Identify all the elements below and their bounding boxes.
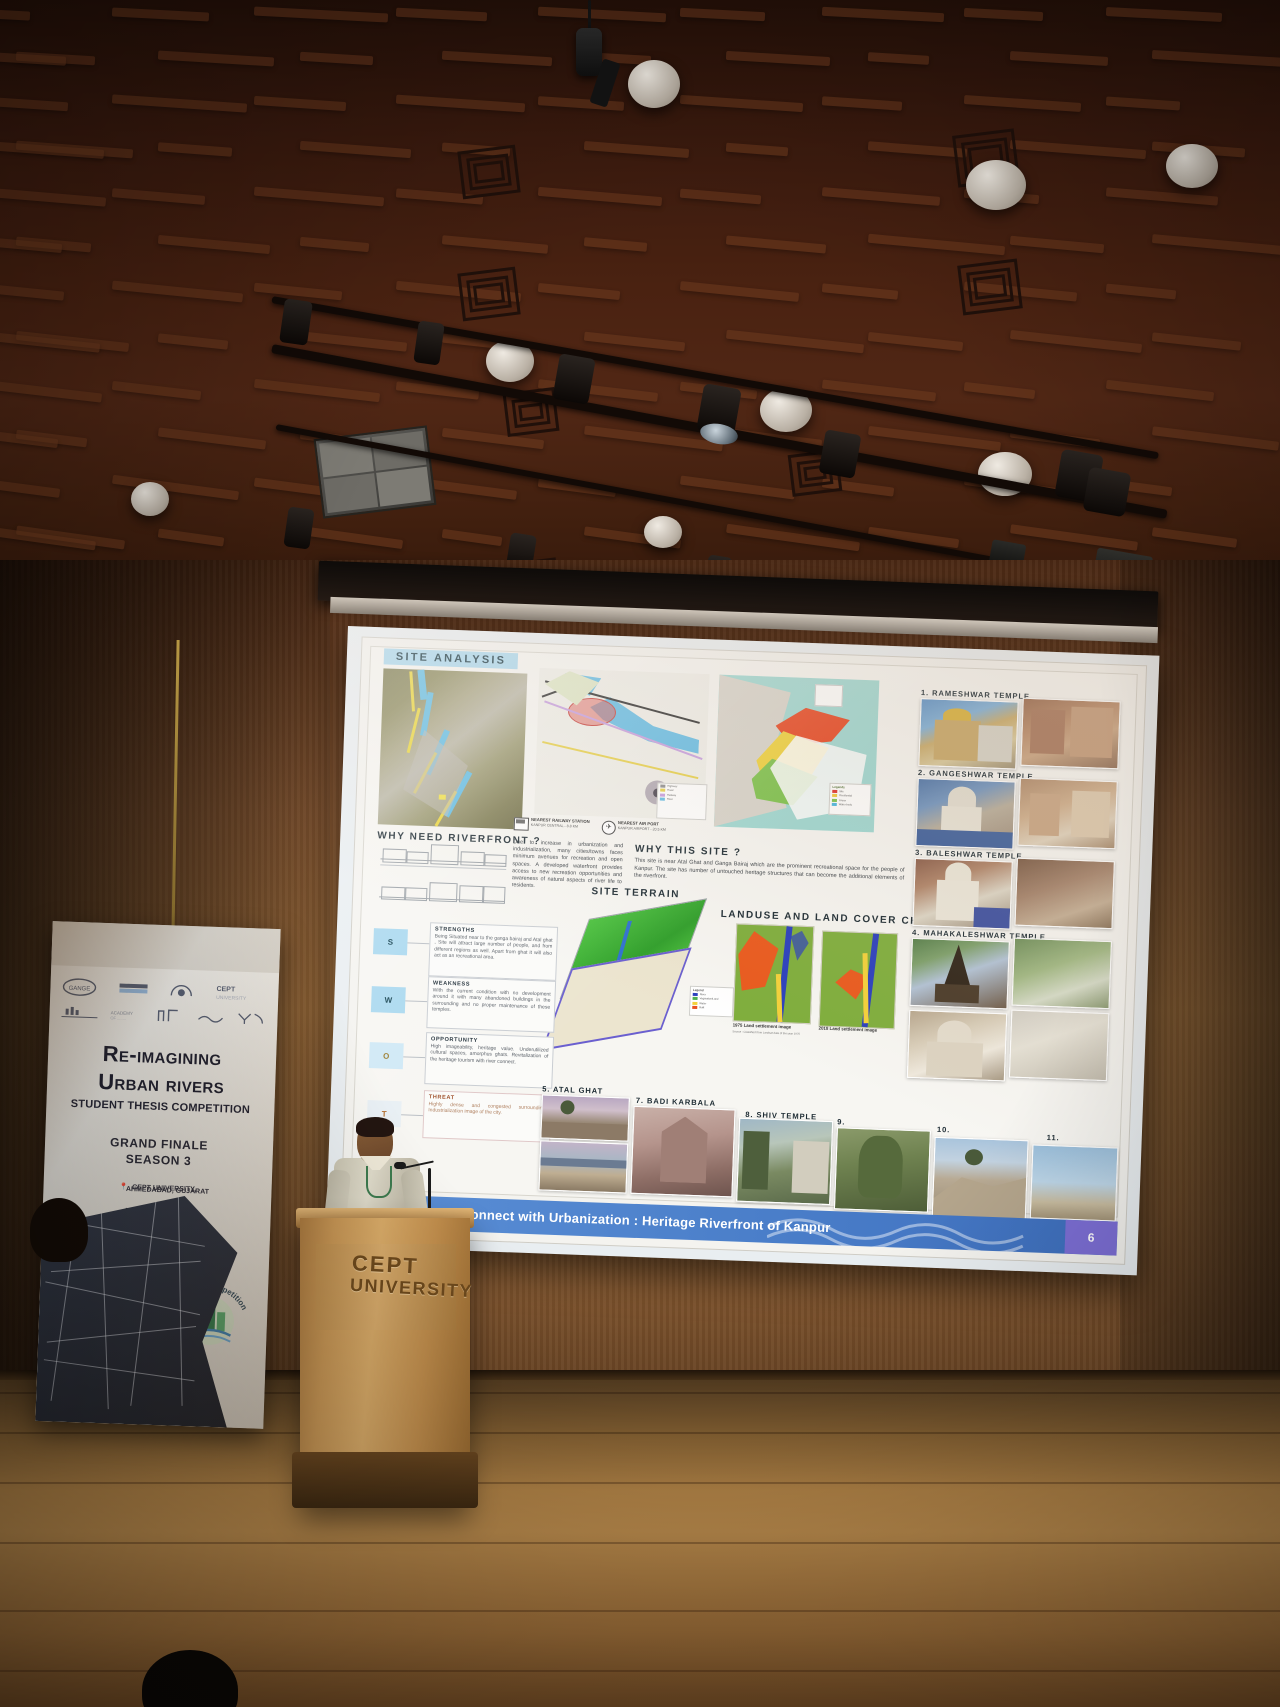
ceiling-slat [1010,524,1138,551]
podium-base [292,1452,478,1508]
ceiling-slat [300,525,403,548]
stage-spotlight [818,429,861,479]
ceiling-slat [680,95,803,112]
photo-atal-ghat-b [538,1140,628,1193]
city-map-legend: Highway Road Railway River [656,782,707,820]
ceiling-slat [1152,426,1279,451]
photo-rameshwar-temple [918,698,1018,770]
ceiling-slat [868,52,929,65]
photo-11 [1030,1144,1119,1221]
stage-spotlight [283,506,314,549]
square-ceiling-light [457,267,520,322]
map-legend: Legends Site Residential Green Water bod… [828,783,871,817]
satellite-map [378,668,528,829]
ceiling-slat [0,96,68,112]
ceiling-slat [442,528,503,545]
ceiling-slat [584,331,685,351]
ceiling-slat [0,378,102,402]
ceiling-slat [1010,329,1142,352]
photo-gangeshwar-temple [915,778,1015,850]
ceiling [0,0,1280,640]
square-ceiling-light [957,259,1023,316]
ceiling-slat [0,282,64,300]
podium-microphone-head [394,1162,406,1169]
ceiling-slat [300,331,407,351]
ceiling-slat [300,140,411,157]
ceiling-slat [300,51,373,64]
photo-caption-10: 10. [937,1125,951,1134]
ceiling-slat [254,96,346,111]
terrain-diagram [534,900,719,1037]
photo-9 [834,1127,931,1212]
swot-box-weakness: WEAKNESS With the current condition with… [426,976,556,1033]
photo-atal-ghat-a [540,1094,630,1141]
swot-box-strengths: STRENGTHS Being Situated near to the gan… [428,922,558,981]
ceiling-slat [254,283,342,301]
photo-10 [932,1137,1029,1220]
banner-light-shading [35,921,280,1429]
ceiling-slat [112,188,205,205]
ceiling-slat [158,333,229,349]
ceiling-slat [1152,49,1280,66]
landuse-legend: Legend River Vegetation/Land Water Built [689,986,734,1018]
ceiling-slat [1106,96,1180,110]
acoustic-disc [628,60,680,108]
acoustic-disc [1166,144,1218,188]
stage-spotlight [1082,467,1131,518]
ceiling-slat [112,381,201,400]
ceiling-slat [680,8,765,21]
ceiling-slat [1152,527,1237,548]
ceiling-slat [1106,7,1222,22]
ceiling-slat [868,233,1005,254]
projection-screen: SITE ANALYSIS [325,626,1159,1275]
ceiling-slat [396,95,525,113]
ceiling-slat [822,187,940,206]
ceiling-slat [442,235,548,254]
ceiling-slat [538,7,666,23]
ceiling-slat [254,187,384,207]
landuse-map-2018 [819,931,898,1030]
photo-caption-11: 11. [1047,1133,1060,1142]
photo-mahakaleshwar-temple [909,938,1009,1010]
ceiling-slat [964,8,1043,21]
acoustic-disc [131,482,169,516]
ceiling-slat [726,523,860,550]
section-diagram-existing [380,846,507,881]
acoustic-disc [966,160,1026,210]
ceiling-slat [112,7,209,21]
ceiling-slat [1010,235,1104,253]
swot-body-strengths: Being Situated near to the ganga bairaj … [434,933,553,963]
ceiling-slat [538,283,620,300]
photo-temple-lower-left [907,1010,1007,1082]
ceiling-slat [868,331,963,350]
photo-shiv-temple [736,1118,833,1205]
ceiling-slat [680,281,799,302]
presentation-slide: SITE ANALYSIS [340,637,1147,1265]
section-diagram-proposed [379,882,506,917]
landuse-plan-map: Legends Site Residential Green Water bod… [714,675,879,833]
microphone-capsule [576,28,602,76]
ceiling-slat [112,94,247,112]
ceiling-slat [158,142,232,157]
ceiling-slat [254,379,380,402]
auditorium-scene: LB - 1 6 SITE ANALYSIS [0,0,1280,1707]
ceiling-slat [0,186,106,206]
ceiling-slat [254,6,388,22]
photo-baleshwar-temple [912,858,1012,930]
ceiling-slat [726,235,826,253]
photo-temple-right-3 [1014,858,1114,930]
ceiling-slat [0,477,60,498]
ceiling-slat [584,237,648,252]
slide-page-number: 6 [1064,1220,1117,1256]
ceiling-slat [1106,380,1214,401]
ceiling-slat [396,8,487,22]
acoustic-disc [644,516,682,548]
ceiling-slat [822,7,944,22]
landuse-map-1975 [733,923,815,1024]
ceiling-slat [1152,234,1280,255]
swot-letter-s: S [373,928,408,955]
square-ceiling-light [457,145,520,200]
photo-badi-karbala [630,1106,735,1198]
swot-box-threat: THREAT Highly dense and congested surrou… [422,1090,552,1143]
ceiling-slat [868,425,1001,450]
ceiling-slat [680,476,795,500]
ceiling-slat [1152,332,1241,350]
ceiling-slat [158,528,225,546]
ceiling-slat [442,50,552,66]
speaker-hair [356,1117,394,1137]
photo-temple-right-1 [1020,698,1120,770]
event-banner: GANGE CEPTUNIVERSITY ACADEMYOF ........ [35,921,280,1429]
ceiling-slat [822,283,899,300]
swot-body-opportunity: High imageability, heritage value. Under… [430,1043,549,1067]
swot-letter-w: W [371,986,406,1013]
ceiling-slat [726,329,864,353]
ceiling-slat [964,382,1036,399]
ceiling-slat [964,95,1081,112]
why-need-riverfront-body: Due to increase in urbanization and indu… [511,839,623,893]
ceiling-slat [680,189,761,205]
audience-head-silhouette [30,1198,88,1262]
ceiling-slat [538,96,624,111]
ceiling-slat [584,141,689,158]
ceiling-slat [1010,51,1108,66]
photo-temple-right-4 [1012,938,1112,1010]
ceiling-slat [1010,139,1146,158]
swot-body-weakness: With the current condition with no devel… [432,987,551,1017]
swot-letter-o: O [369,1042,404,1069]
ceiling-slat [158,427,266,449]
photo-temple-lower-right [1009,1010,1109,1082]
photo-caption-9: 9. [837,1117,845,1126]
photo-temple-right-2 [1017,778,1117,850]
ceiling-slat [158,234,270,253]
ceiling-slat [0,8,30,20]
speaker-lanyard [366,1166,392,1198]
ceiling-slat [1106,187,1218,205]
ceiling-slat [300,236,370,251]
ceiling-slat [1106,284,1177,300]
swot-box-opportunity: OPPORTUNITY High imageability, heritage … [424,1032,554,1089]
ceiling-slat [158,50,274,66]
hanging-microphone [588,0,591,30]
ceiling-slat [112,281,243,303]
ceiling-slat [822,96,902,110]
ceiling-slat [726,142,789,156]
ceiling-slat [726,50,830,65]
ceiling-slat [538,187,662,206]
